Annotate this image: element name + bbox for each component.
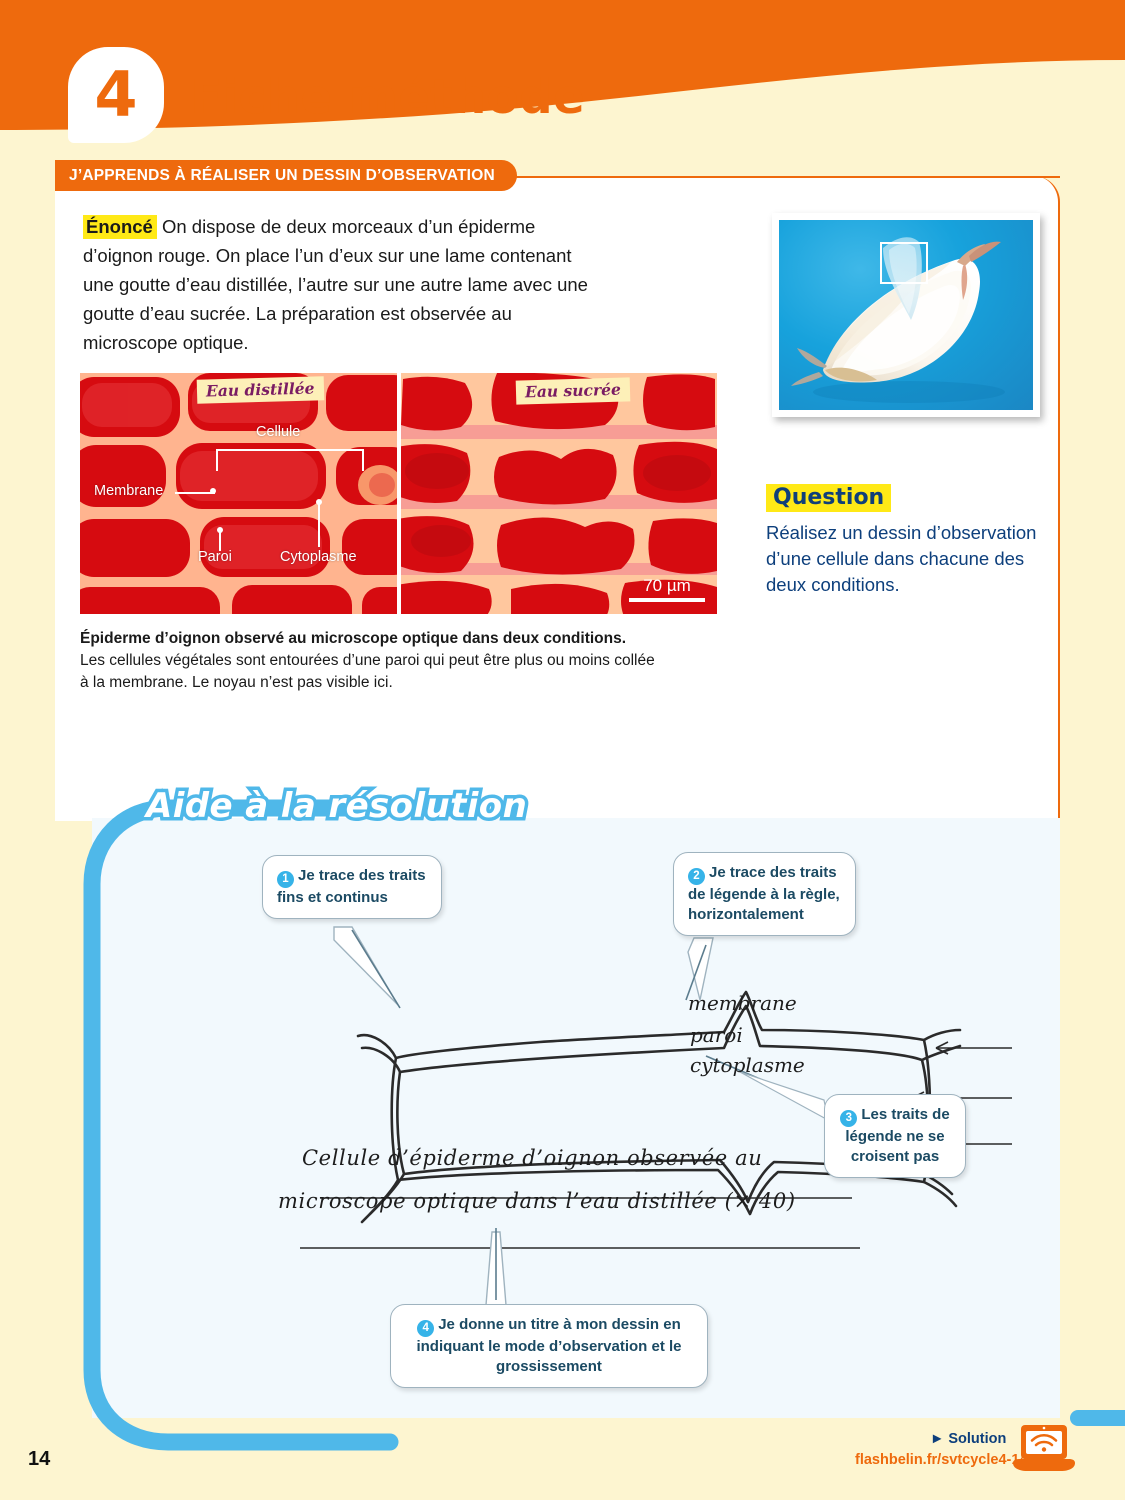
micrograph-sugar-water: Eau sucrée 70 µm xyxy=(401,373,717,614)
page-number: 14 xyxy=(28,1448,50,1471)
anchor-cytoplasme xyxy=(316,499,322,505)
figure-caption: Épiderme d’oignon observé au microscope … xyxy=(80,628,720,694)
label-cytoplasme: Cytoplasme xyxy=(280,549,357,565)
bottom-blue-accent xyxy=(1070,1410,1125,1426)
enonce-text: On dispose de deux morceaux d’un épiderm… xyxy=(83,216,588,353)
bubble-2: 2Je trace des traits de légende à la règ… xyxy=(673,852,856,936)
handwritten-label-paroi: paroi xyxy=(690,1023,743,1047)
bubble-1: 1Je trace des traits fins et continus xyxy=(262,855,442,919)
enonce-label: Énoncé xyxy=(83,215,157,239)
handwritten-title-line-2: microscope optique dans l’eau distillée … xyxy=(278,1189,796,1213)
bubble-1-text: Je trace des traits fins et continus xyxy=(277,867,426,906)
wifi-laptop-icon[interactable] xyxy=(1013,1423,1075,1475)
handwritten-label-cytoplasme: cytoplasme xyxy=(690,1053,805,1077)
anchor-paroi xyxy=(217,527,223,533)
bubble-4-text: Je donne un titre à mon dessin en indiqu… xyxy=(416,1316,681,1375)
label-membrane: Membrane xyxy=(94,483,163,499)
label-cellule: Cellule xyxy=(256,424,300,440)
tag-eau-distillee: Eau distillée xyxy=(197,376,324,404)
zoom-region-box xyxy=(880,242,928,284)
anchor-membrane xyxy=(210,488,216,494)
handwritten-title-line-1: Cellule d’épiderme d’oignon observée au xyxy=(302,1146,762,1170)
question-text: Réalisez un dessin d’observation d’une c… xyxy=(766,520,1041,598)
micrograph-distilled-water: Eau distillée Cellule Membrane Paroi Cyt… xyxy=(80,373,397,614)
caption-bold: Épiderme d’oignon observé au microscope … xyxy=(80,628,720,650)
caption-line-1: Les cellules végétales sont entourées d’… xyxy=(80,650,720,672)
enonce-block: Énoncé On dispose de deux morceaux d’un … xyxy=(83,212,603,357)
bubble-3: 3Les traits de légende ne se croisent pa… xyxy=(824,1094,966,1178)
leader-membrane xyxy=(175,492,215,494)
caption-line-2: à la membrane. Le noyau n’est pas visibl… xyxy=(80,672,720,694)
onion-photo-frame xyxy=(772,213,1040,417)
bubble-2-text: Je trace des traits de légende à la règl… xyxy=(688,864,840,923)
solution-url[interactable]: flashbelin.fr/svtcycle4-14 xyxy=(855,1452,1027,1468)
section-tab: J’APPRENDS À RÉALISER UN DESSIN D’OBSERV… xyxy=(55,160,517,191)
micrograph-pair: Eau distillée Cellule Membrane Paroi Cyt… xyxy=(80,373,717,614)
scale-bar-line xyxy=(629,598,705,602)
solution-label: ► Solution xyxy=(930,1431,1006,1447)
tag-eau-sucree: Eau sucrée xyxy=(516,377,630,404)
enonce-paragraph: Énoncé On dispose de deux morceaux d’un … xyxy=(83,212,603,357)
onion-photo xyxy=(779,220,1033,410)
handwritten-label-membrane: membrane xyxy=(688,991,797,1015)
bracket-cellule-right xyxy=(362,449,364,471)
scale-bar-label: 70 µm xyxy=(629,576,705,596)
bubble-1-number: 1 xyxy=(277,871,294,888)
bubble-3-text: Les traits de légende ne se croisent pas xyxy=(845,1106,949,1165)
chapter-number-badge: 4 xyxy=(68,47,164,143)
scale-bar: 70 µm xyxy=(629,576,705,602)
page-title: Fiche méthode xyxy=(190,70,585,125)
leader-cytoplasme xyxy=(318,503,320,547)
section-rule xyxy=(500,176,1060,178)
leader-paroi xyxy=(219,531,221,551)
label-paroi: Paroi xyxy=(198,549,232,565)
aide-title: Aide à la résolution xyxy=(146,786,527,826)
bubble-3-number: 3 xyxy=(840,1110,857,1127)
bubble-4: 4Je donne un titre à mon dessin en indiq… xyxy=(390,1304,708,1388)
bubble-2-number: 2 xyxy=(688,868,705,885)
bubble-4-number: 4 xyxy=(417,1320,434,1337)
bracket-cellule-left xyxy=(216,449,218,471)
bracket-cellule-top xyxy=(216,449,364,451)
chapter-number: 4 xyxy=(94,64,137,126)
question-heading: Question xyxy=(766,484,891,512)
